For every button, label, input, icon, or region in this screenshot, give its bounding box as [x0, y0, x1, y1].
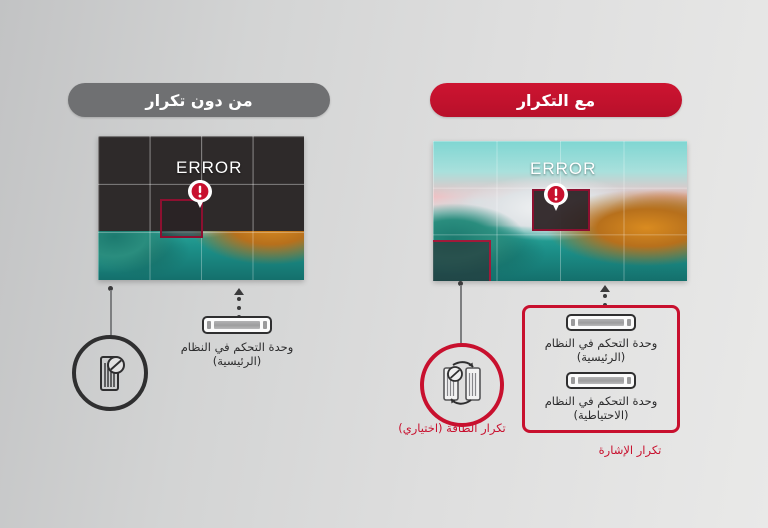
controller-right-cap — [263, 321, 267, 329]
controller-bar — [578, 377, 624, 384]
right-controller-main-caption-line2: (الرئيسية) — [536, 350, 666, 364]
controller-right-cap — [627, 377, 631, 385]
right-controller-main-caption-line1: وحدة التحكم في النظام — [536, 336, 666, 350]
left-section-title-label: من دون تكرار — [145, 91, 252, 110]
controller-bar — [214, 321, 260, 328]
right-section-title-pill: مع التكرار — [430, 83, 682, 117]
left-psu-connector-line — [110, 290, 112, 338]
right-video-wall: ERROR — [433, 141, 687, 281]
right-controller-unit-main — [566, 314, 636, 331]
right-section-title-label: مع التكرار — [517, 91, 595, 110]
power-supply-redundant-icon — [420, 343, 504, 427]
left-controller-connector-arrow — [234, 288, 244, 295]
controller-bar — [578, 319, 624, 326]
signal-redundancy-caption-label: تكرار الإشارة — [599, 443, 662, 457]
right-controller-connector-arrow — [600, 285, 610, 292]
left-wall-error-label: ERROR — [176, 158, 242, 178]
controller-left-cap — [207, 321, 211, 329]
left-controller-caption-line1: وحدة التحكم في النظام — [172, 340, 302, 354]
right-controller-backup-caption-line2: (الاحتياطية) — [536, 408, 666, 422]
right-psu-caption-label: تكرار الطاقة (اختياري) — [398, 421, 506, 435]
right-controller-main-caption: وحدة التحكم في النظام (الرئيسية) — [536, 336, 666, 364]
right-controller-unit-backup — [566, 372, 636, 389]
right-psu-connector-line — [460, 285, 462, 345]
right-controller-backup-caption: وحدة التحكم في النظام (الاحتياطية) — [536, 394, 666, 422]
right-controller-backup-caption-line1: وحدة التحكم في النظام — [536, 394, 666, 408]
left-video-wall: ERROR — [98, 136, 304, 280]
right-wall-error-label: ERROR — [530, 159, 596, 179]
controller-left-cap — [571, 377, 575, 385]
left-controller-unit — [202, 316, 272, 334]
exclamation-pin-icon — [540, 181, 572, 213]
right-wall-secondary-panel — [433, 240, 491, 281]
power-supply-single-icon — [72, 335, 148, 411]
signal-redundancy-caption: تكرار الإشارة — [570, 443, 690, 457]
exclamation-pin-icon — [184, 178, 216, 210]
left-section-title-pill: من دون تكرار — [68, 83, 330, 117]
controller-right-cap — [627, 319, 631, 327]
controller-left-cap — [571, 319, 575, 327]
diagram-canvas: من دون تكرار ERROR — [0, 0, 768, 528]
right-psu-caption: تكرار الطاقة (اختياري) — [372, 421, 532, 435]
left-controller-caption: وحدة التحكم في النظام (الرئيسية) — [172, 340, 302, 368]
left-controller-caption-line2: (الرئيسية) — [172, 354, 302, 368]
